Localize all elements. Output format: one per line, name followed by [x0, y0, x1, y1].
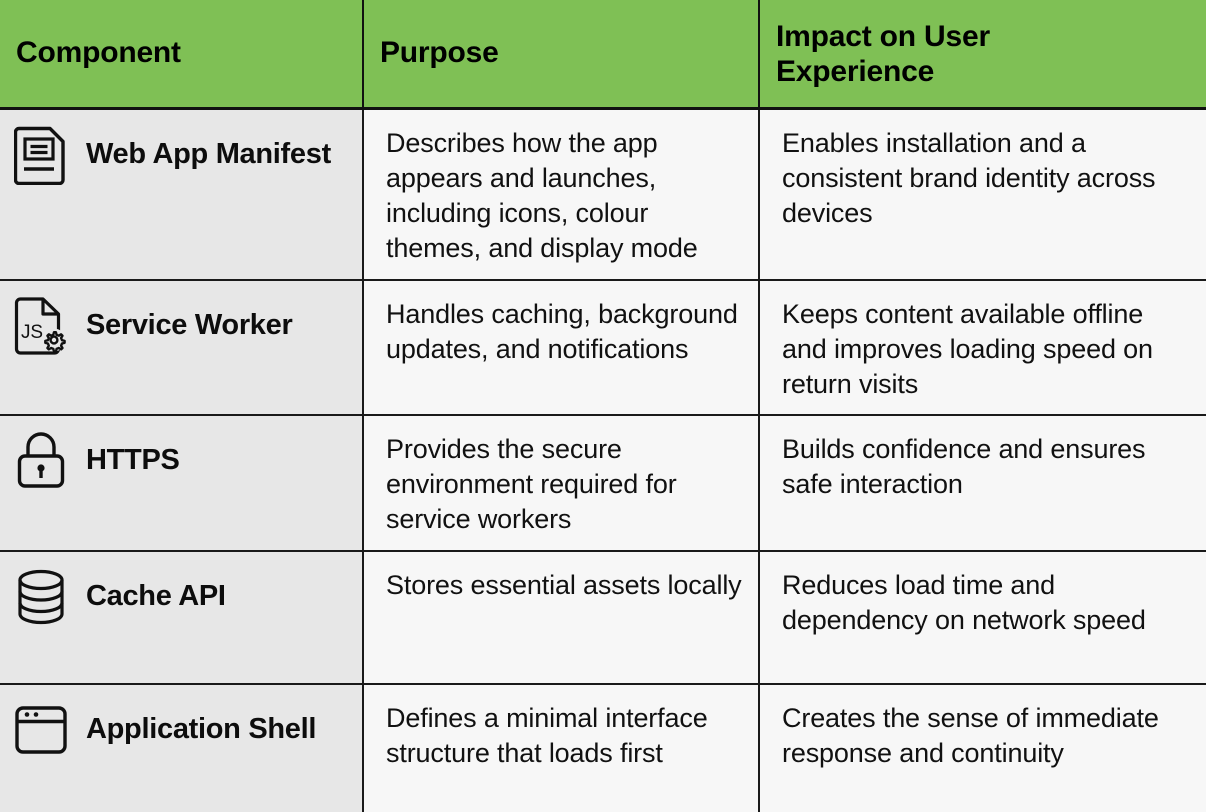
cell-component: Cache API [0, 551, 363, 684]
table-row: Web App Manifest Describes how the app a… [0, 108, 1206, 280]
browser-window-icon [10, 699, 72, 761]
purpose-text: Stores essential assets locally [386, 568, 744, 603]
column-header-component: Component [0, 0, 363, 108]
impact-text: Builds confidence and ensures safe inter… [782, 432, 1192, 502]
cell-component: JS Service Worker [0, 280, 363, 415]
component-label: HTTPS [86, 445, 180, 477]
pwa-components-table: Component Purpose Impact on User Experie… [0, 0, 1206, 812]
cell-impact: Enables installation and a consistent br… [759, 108, 1206, 280]
column-header-purpose: Purpose [363, 0, 759, 108]
column-header-impact-on-user-experience: Impact on User Experience [759, 0, 1206, 108]
table-row: Application Shell Defines a minimal inte… [0, 684, 1206, 812]
cell-impact: Creates the sense of immediate response … [759, 684, 1206, 812]
table-header: Component Purpose Impact on User Experie… [0, 0, 1206, 108]
component-entry: HTTPS [10, 430, 350, 492]
component-entry: Cache API [10, 566, 350, 628]
component-label: Cache API [86, 581, 226, 613]
purpose-text: Handles caching, background updates, and… [386, 297, 744, 367]
table-row: JS Service Worker Handles cach [0, 280, 1206, 415]
cell-component: Web App Manifest [0, 108, 363, 280]
pwa-components-table-container: Component Purpose Impact on User Experie… [0, 0, 1206, 812]
table-body: Web App Manifest Describes how the app a… [0, 108, 1206, 812]
purpose-text: Describes how the app appears and launch… [386, 126, 744, 266]
svg-text:JS: JS [21, 322, 43, 343]
purpose-text: Defines a minimal interface structure th… [386, 701, 744, 771]
cell-impact: Keeps content available offline and impr… [759, 280, 1206, 415]
component-label: Service Worker [86, 310, 292, 342]
impact-text: Enables installation and a consistent br… [782, 126, 1192, 231]
cell-purpose: Stores essential assets locally [363, 551, 759, 684]
cell-purpose: Defines a minimal interface structure th… [363, 684, 759, 812]
component-label: Application Shell [86, 714, 316, 746]
impact-text: Keeps content available offline and impr… [782, 297, 1192, 402]
database-icon [10, 566, 72, 628]
cell-purpose: Handles caching, background updates, and… [363, 280, 759, 415]
cell-component: HTTPS [0, 415, 363, 550]
cell-component: Application Shell [0, 684, 363, 812]
purpose-text: Provides the secure environment required… [386, 432, 744, 537]
component-label: Web App Manifest [86, 139, 331, 171]
cell-impact: Builds confidence and ensures safe inter… [759, 415, 1206, 550]
document-manifest-icon [10, 124, 72, 186]
table-row: HTTPS Provides the secure environment re… [0, 415, 1206, 550]
component-entry: Application Shell [10, 699, 350, 761]
table-row: Cache API Stores essential assets locall… [0, 551, 1206, 684]
padlock-icon [10, 430, 72, 492]
impact-text: Reduces load time and dependency on netw… [782, 568, 1192, 638]
component-entry: JS Service Worker [10, 295, 350, 357]
header-row: Component Purpose Impact on User Experie… [0, 0, 1206, 108]
impact-text: Creates the sense of immediate response … [782, 701, 1192, 771]
cell-purpose: Describes how the app appears and launch… [363, 108, 759, 280]
js-file-gear-icon: JS [10, 295, 72, 357]
cell-purpose: Provides the secure environment required… [363, 415, 759, 550]
cell-impact: Reduces load time and dependency on netw… [759, 551, 1206, 684]
component-entry: Web App Manifest [10, 124, 350, 186]
